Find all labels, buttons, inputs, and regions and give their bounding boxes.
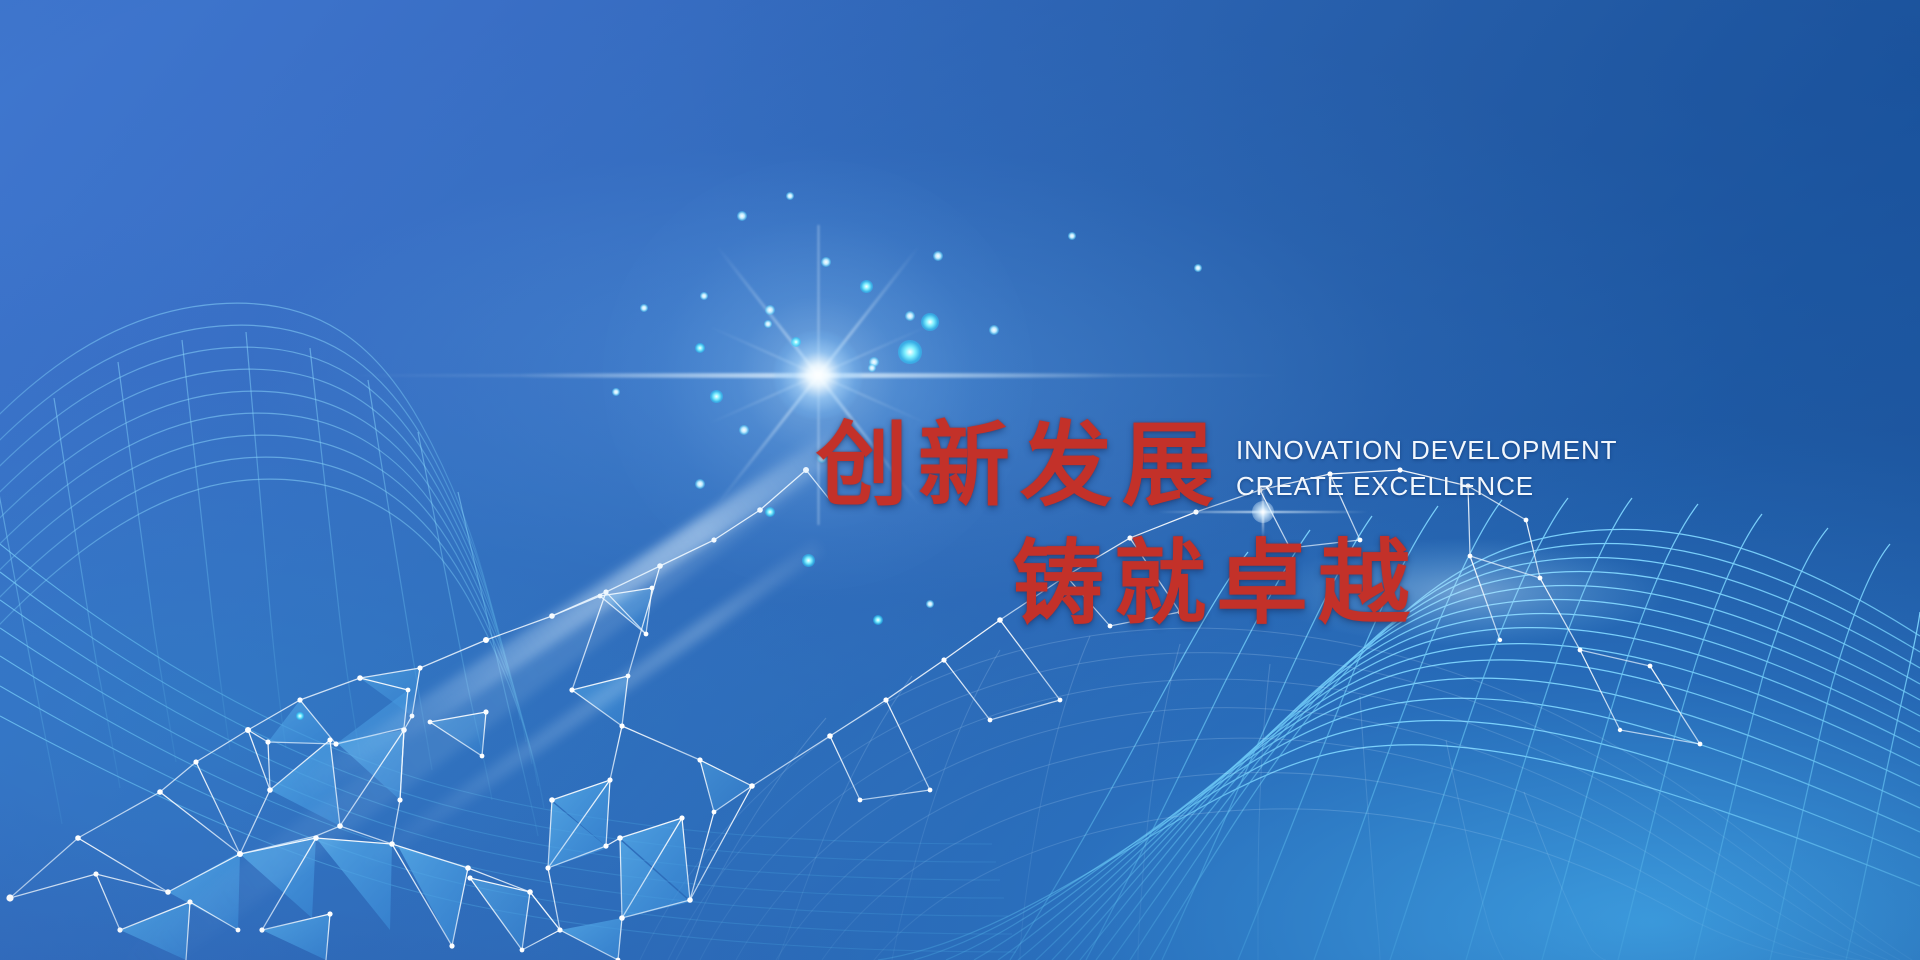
- headline-cn-line-2: 铸就卓越: [1012, 538, 1420, 630]
- headline-block: 创新发展 铸就卓越 INNOVATION DEVELOPMENT CREATE …: [0, 0, 1920, 960]
- lens-flare-core: [1252, 501, 1274, 523]
- subtitle-en-line-1: INNOVATION DEVELOPMENT: [1236, 437, 1617, 463]
- subtitle-en-line-2: CREATE EXCELLENCE: [1236, 473, 1534, 499]
- headline-cn-line-1: 创新发展: [816, 420, 1224, 512]
- poster-canvas: 创新发展 铸就卓越 INNOVATION DEVELOPMENT CREATE …: [0, 0, 1920, 960]
